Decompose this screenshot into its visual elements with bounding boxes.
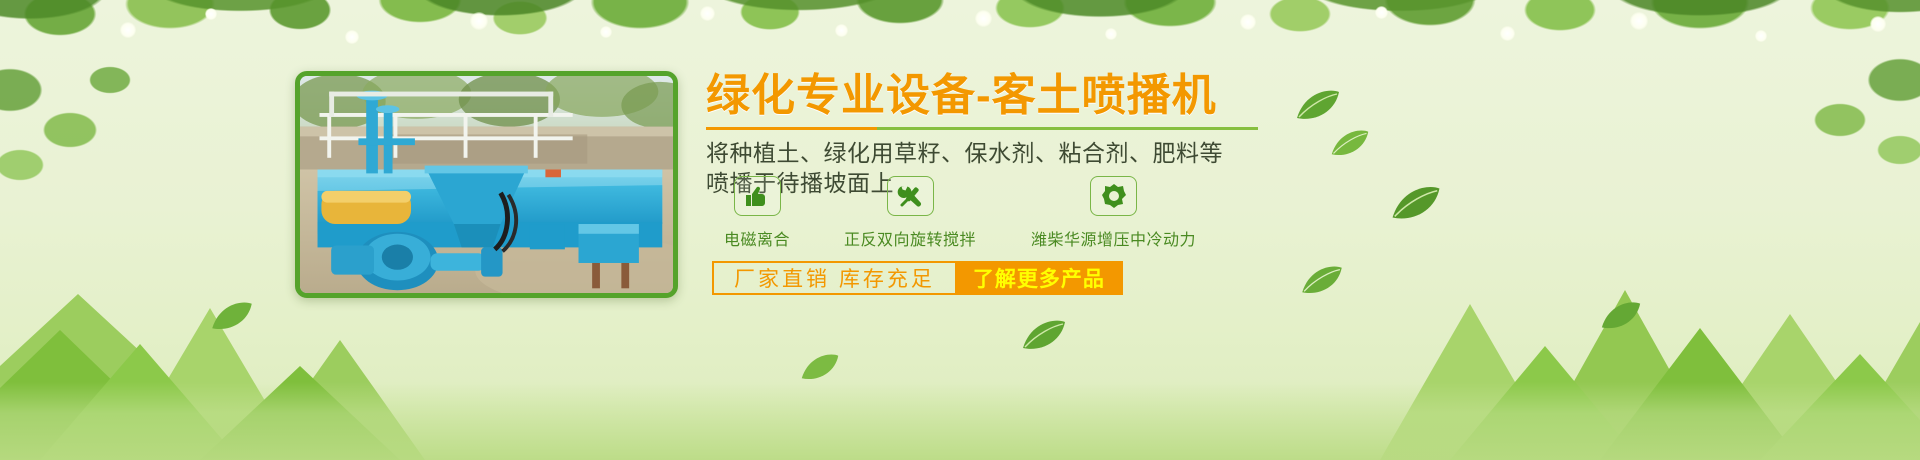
leaf-icon (800, 352, 840, 382)
blossom-dot (600, 26, 612, 38)
feature-icon-box (887, 176, 934, 216)
feature-label: 正反双向旋转搅拌 (844, 226, 976, 250)
thumbs-up-icon (744, 184, 770, 208)
blossom-dot (1870, 16, 1886, 32)
product-photo (295, 71, 678, 298)
blossom-dot (345, 30, 359, 44)
feature-label: 电磁离合 (724, 226, 790, 250)
banner-subtitle-line1: 将种植土、绿化用草籽、保水剂、粘合剂、肥料等 (706, 138, 1706, 168)
headline-divider (706, 127, 1258, 130)
grass-strip-decoration (0, 382, 1920, 460)
leaf-icon (1020, 318, 1068, 352)
product-photo-image (300, 76, 673, 297)
blossom-dot (1105, 28, 1117, 40)
cta-bar: 厂家直销 库存充足 了解更多产品 (712, 261, 1123, 295)
feature-item-electromagnetic-clutch: 电磁离合 (724, 176, 790, 250)
feature-item-weichai-power: 潍柴华源增压中冷动力 (1031, 176, 1196, 250)
blossom-dot (1755, 30, 1767, 42)
blossom-dot (1500, 26, 1515, 41)
blossom-dot (1375, 6, 1388, 19)
feature-list: 电磁离合 正反双向旋转搅拌 (706, 176, 1706, 250)
leaf-icon (210, 300, 254, 332)
blossom-dot (1630, 12, 1648, 30)
feature-icon-box (734, 176, 781, 216)
blossom-dot (205, 8, 217, 20)
learn-more-button[interactable]: 了解更多产品 (955, 261, 1123, 295)
feature-icon-box (1090, 176, 1137, 216)
cta-tagline: 厂家直销 库存充足 (712, 261, 955, 295)
blossom-dot (1240, 14, 1256, 30)
blossom-dot (835, 24, 848, 37)
leaf-icon (1600, 300, 1642, 331)
blossom-dot (120, 22, 136, 38)
gear-icon (1101, 183, 1127, 209)
blossom-dot (470, 12, 488, 30)
feature-label: 潍柴华源增压中冷动力 (1031, 226, 1196, 250)
blossom-dot (975, 10, 992, 27)
blossom-dot (700, 6, 715, 21)
leaf-icon (1300, 264, 1344, 296)
banner-headline: 绿化专业设备-客土喷播机 (706, 72, 1706, 120)
feature-item-bidirectional-mixing: 正反双向旋转搅拌 (844, 176, 976, 250)
promo-banner: 绿化专业设备-客土喷播机 将种植土、绿化用草籽、保水剂、粘合剂、肥料等 喷播于待… (0, 0, 1920, 460)
tools-icon (896, 183, 924, 209)
